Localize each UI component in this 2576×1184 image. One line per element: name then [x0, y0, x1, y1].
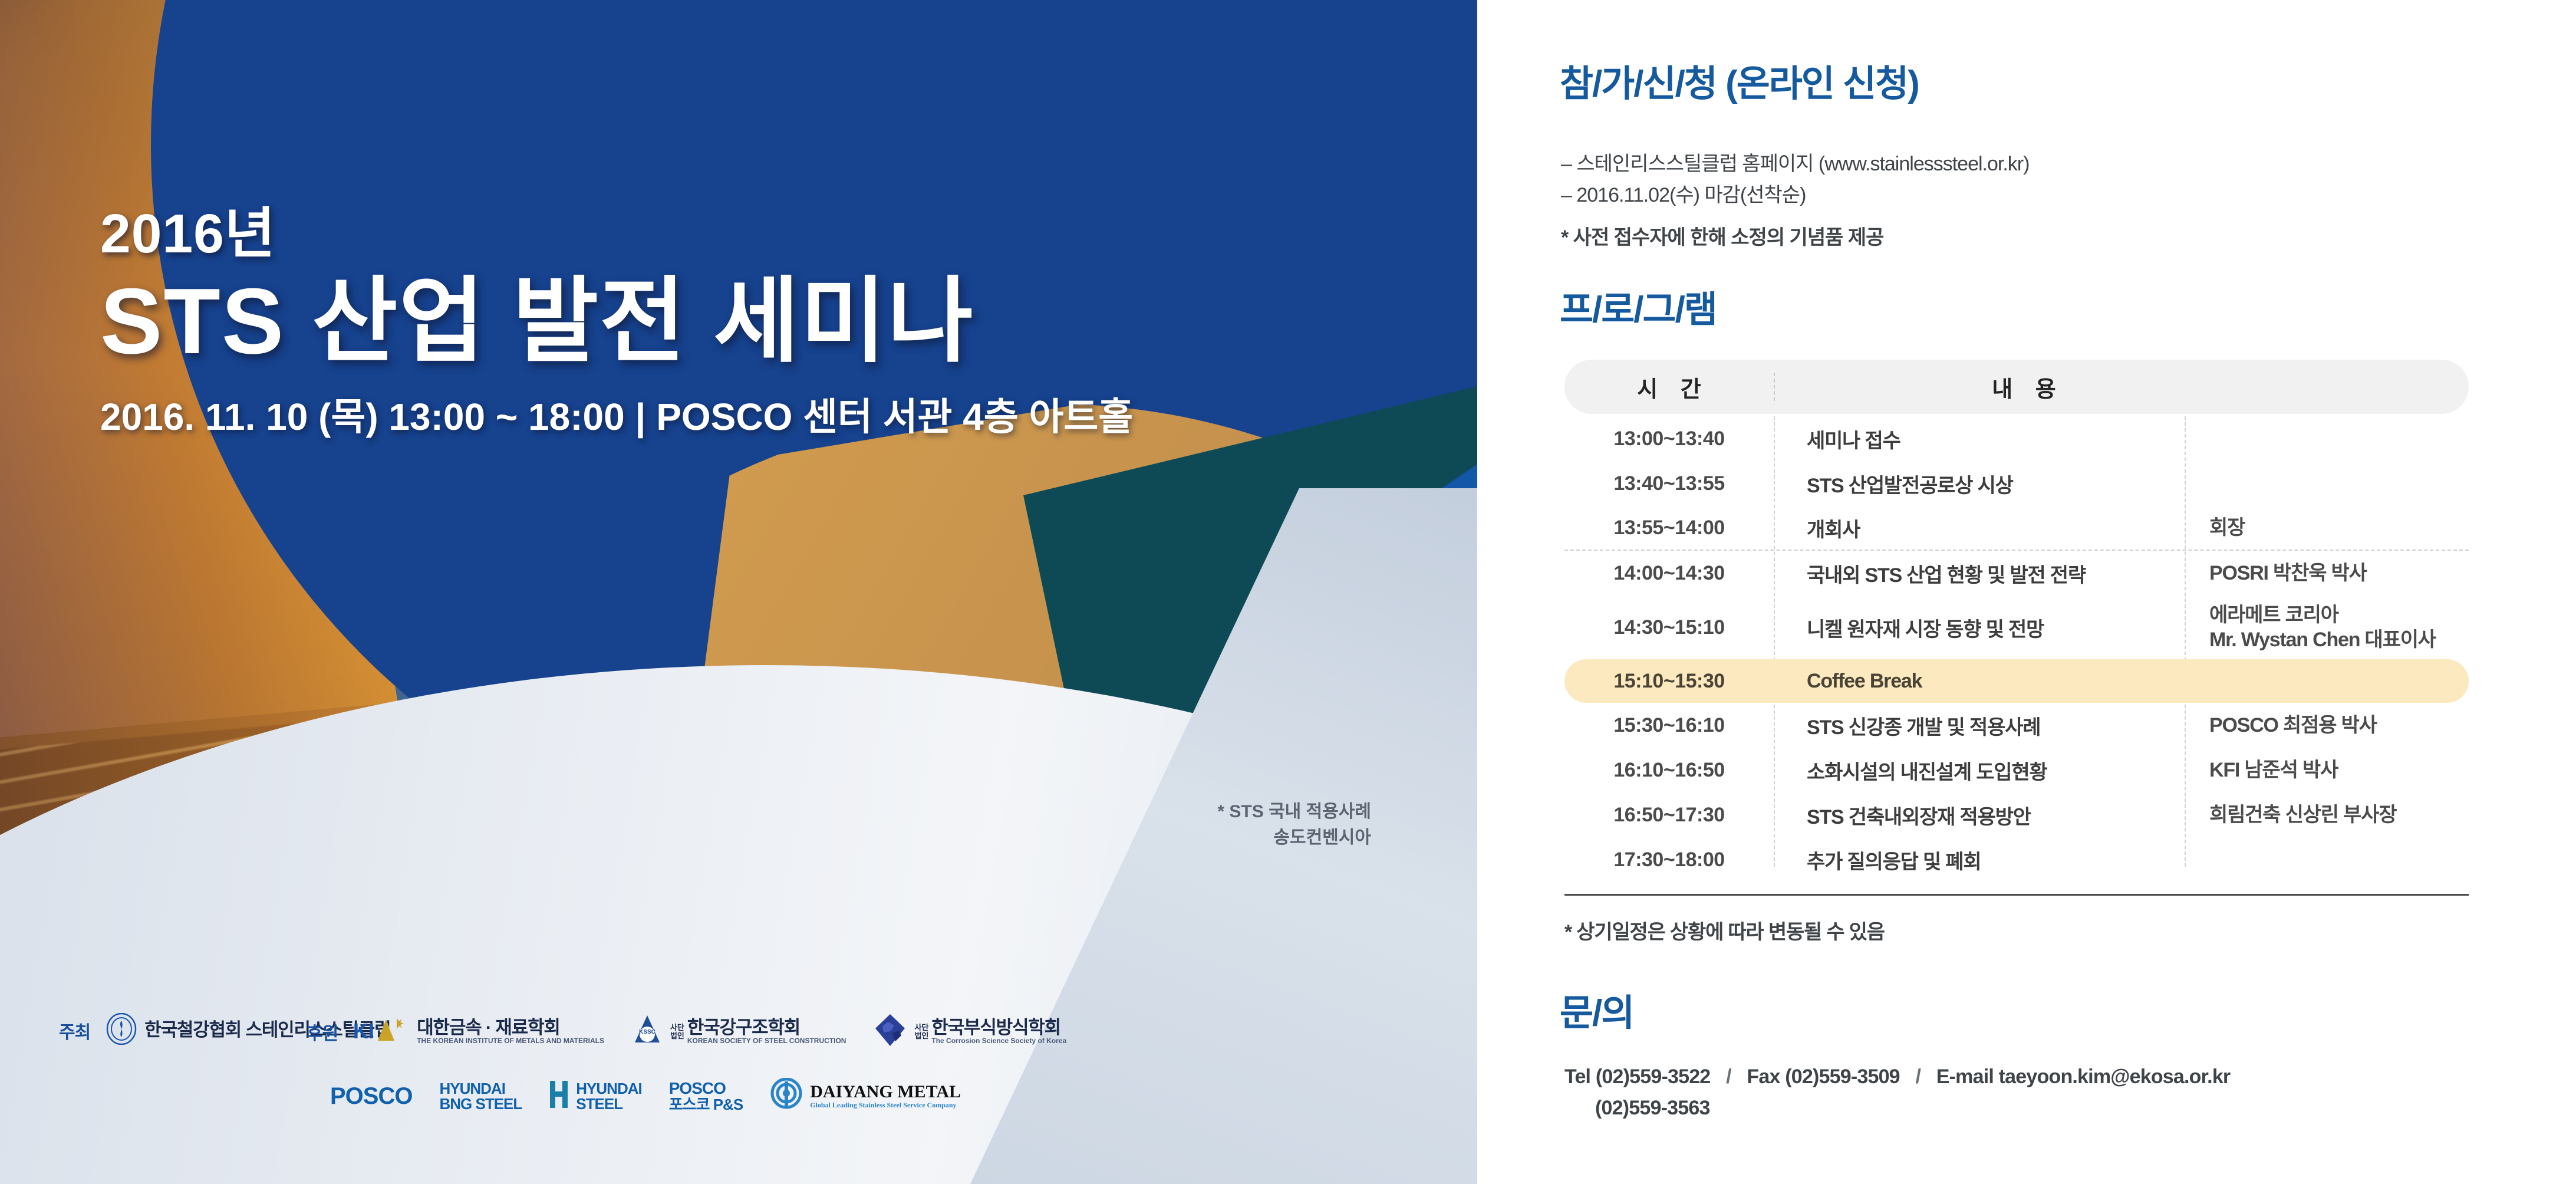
supporter-2-name-en: The Corrosion Science Society of Korea — [931, 1037, 1066, 1045]
daiyang-metal-logo-icon: DAIYANG METAL Global Leading Stainless S… — [810, 1083, 961, 1109]
program-row-speaker: 희림건축 신상린 부사장 — [2185, 803, 2469, 828]
hyundai-steel-top: HYUNDAI — [576, 1081, 641, 1096]
program-row: 15:10~15:30Coffee Break — [1564, 659, 2469, 703]
program-row: 13:55~14:00개회사회장 — [1564, 506, 2469, 551]
kosa-seal-icon — [106, 1013, 137, 1048]
info-panel: 참/가/신/청 (온라인 신청) – 스테인리스스틸클럽 홈페이지 (www.s… — [1477, 0, 2576, 1184]
photo-caption-line1: * STS 국내 적용사례 — [1217, 799, 1371, 825]
program-row: 15:30~16:10STS 신강종 개발 및 적용사례POSCO 최점용 박사 — [1564, 703, 2469, 748]
photo-credit-caption: * STS 국내 적용사례 송도컨벤시아 — [1217, 799, 1371, 850]
bngsteel-top: HYUNDAI — [439, 1081, 522, 1096]
company-logo-row: POSCO HYUNDAI BNG STEEL — [330, 1078, 988, 1114]
program-row-topic: 니켈 원자재 시장 동향 및 전망 — [1774, 613, 2185, 642]
program-row-topic: 추가 질의응답 및 폐회 — [1774, 846, 2185, 874]
program-row-time: 13:40~13:55 — [1564, 472, 1774, 495]
contact-separator-1: / — [1715, 1065, 1742, 1088]
supporter-1-name: 한국강구조학회 KOREAN SOCIETY OF STEEL CONSTRUC… — [687, 1018, 846, 1045]
contact-heading: 문/의 — [1560, 995, 1633, 1032]
logo-bng-steel: HYUNDAI BNG STEEL — [439, 1081, 522, 1111]
tel-value: (02)559-3522 — [1596, 1065, 1711, 1088]
program-row-speaker: POSRI 박찬욱 박사 — [2185, 561, 2469, 586]
supporter-2-prefix: 사단법인 — [914, 1024, 928, 1040]
apply-line-1: – 2016.11.02(수) 마감(선착순) — [1561, 180, 2029, 211]
svg-text:KI: KI — [353, 1019, 374, 1043]
email-label: E-mail — [1936, 1065, 1994, 1088]
program-heading: 프/로/그/램 — [1560, 292, 1717, 328]
supporter-2-name: 한국부식방식학회 The Corrosion Science Society o… — [931, 1018, 1066, 1045]
program-row-time: 15:30~16:10 — [1564, 714, 1774, 737]
hyundai-h-icon — [549, 1080, 569, 1112]
program-row-time: 13:55~14:00 — [1564, 517, 1774, 540]
hyundai-steel-bottom: STEEL — [576, 1096, 641, 1111]
program-row-topic: STS 신강종 개발 및 적용사례 — [1774, 711, 2185, 740]
program-row-topic: 국내외 STS 산업 현황 및 발전 전략 — [1774, 559, 2185, 588]
kssc-logo-icon: KSSC — [631, 1014, 663, 1049]
apply-line-0: – 스테인리스스틸클럽 홈페이지 (www.stainlesssteel.or.… — [1561, 149, 2029, 180]
posco-pns-bottom: 포스코 P&S — [669, 1097, 743, 1112]
contact-line-secondary: (02)559-3563 — [1564, 1093, 2230, 1124]
poster-title-block: 2016년 STS 산업 발전 세미나 2016. 11. 10 (목) 13:… — [100, 206, 1133, 441]
supporter-row: 후원 KI 대한금속 · 재료학회 THE KOREAN INSTITUTE O… — [307, 1013, 1093, 1050]
posco-pns-logo-icon: POSCO 포스코 P&S — [669, 1080, 743, 1112]
program-row: 17:30~18:00추가 질의응답 및 폐회 — [1564, 837, 2469, 882]
program-row: 16:50~17:30STS 건축내외장재 적용방안희림건축 신상린 부사장 — [1564, 792, 2469, 837]
supporter-0-name: 대한금속 · 재료학회 THE KOREAN INSTITUTE OF META… — [417, 1018, 604, 1045]
program-row: 14:30~15:10니켈 원자재 시장 동향 및 전망에라메트 코리아Mr. … — [1564, 596, 2469, 659]
tel-label: Tel — [1564, 1065, 1590, 1088]
program-row-time: 14:30~15:10 — [1564, 616, 1774, 639]
program-row-speaker: POSCO 최점용 박사 — [2185, 713, 2469, 738]
apply-lines: – 스테인리스스틸클럽 홈페이지 (www.stainlesssteel.or.… — [1561, 149, 2029, 211]
header-column-divider — [1774, 373, 1775, 401]
logo-kssc: KSSC 사단법인 한국강구조학회 KOREAN SOCIETY OF STEE… — [631, 1014, 846, 1049]
program-row-time: 14:00~14:30 — [1564, 562, 1774, 585]
fax-label: Fax — [1747, 1065, 1780, 1088]
program-row-time: 13:00~13:40 — [1564, 427, 1774, 450]
program-row: 16:10~16:50소화시설의 내진설계 도입현황KFI 남준석 박사 — [1564, 748, 2469, 792]
program-row-time: 16:10~16:50 — [1564, 759, 1774, 782]
program-footnote: * 상기일정은 상황에 따라 변동될 수 있음 — [1564, 916, 2469, 945]
poster-title: STS 산업 발전 세미나 — [100, 274, 1133, 369]
program-table-header: 시 간 내 용 — [1564, 360, 2469, 414]
program-row-topic: STS 건축내외장재 적용방안 — [1774, 801, 2185, 830]
daiyang-target-icon — [770, 1078, 803, 1114]
program-table: 시 간 내 용 13:00~13:40세미나 접수13:40~13:55STS … — [1564, 360, 2469, 945]
cssk-logo-icon — [873, 1013, 907, 1050]
logo-hyundai-steel: HYUNDAI STEEL — [549, 1080, 641, 1112]
photo-caption-line2: 송도컨벤시아 — [1217, 825, 1371, 851]
poster-year: 2016년 — [100, 206, 1133, 261]
contact-separator-2: / — [1905, 1065, 1931, 1088]
bngsteel-logo-icon: HYUNDAI BNG STEEL — [439, 1081, 522, 1111]
supporter-1-prefix: 사단법인 — [670, 1024, 684, 1040]
table-bottom-rule — [1564, 894, 2469, 896]
svg-text:KSSC: KSSC — [639, 1029, 655, 1035]
supporter-1-name-en: KOREAN SOCIETY OF STEEL CONSTRUCTION — [687, 1037, 846, 1045]
program-row-speaker: KFI 남준석 박사 — [2185, 758, 2469, 783]
email-value[interactable]: taeyoon.kim@ekosa.or.kr — [1999, 1065, 2231, 1088]
support-label: 후원 — [307, 1019, 338, 1045]
program-row-time: 15:10~15:30 — [1564, 670, 1774, 693]
hero-visual-panel: 2016년 STS 산업 발전 세미나 2016. 11. 10 (목) 13:… — [0, 0, 1477, 1184]
hyundai-steel-logo-icon: HYUNDAI STEEL — [576, 1081, 641, 1111]
host-label: 주최 — [59, 1018, 90, 1044]
logo-daiyang-metal: DAIYANG METAL Global Leading Stainless S… — [770, 1078, 961, 1114]
program-row-topic: STS 산업발전공로상 시상 — [1774, 469, 2185, 498]
seminar-poster: 2016년 STS 산업 발전 세미나 2016. 11. 10 (목) 13:… — [0, 0, 2576, 1184]
program-row-speaker: 회장 — [2185, 515, 2469, 541]
daiyang-tagline: Global Leading Stainless Steel Service C… — [810, 1101, 961, 1109]
apply-note: * 사전 접수자에 한해 소정의 기념품 제공 — [1561, 221, 1883, 250]
contact-line-primary: Tel (02)559-3522 / Fax (02)559-3509 / E-… — [1564, 1061, 2230, 1093]
poster-subtitle: 2016. 11. 10 (목) 13:00 ~ 18:00 | POSCO 센… — [100, 387, 1133, 441]
supporter-0-name-en: THE KOREAN INSTITUTE OF METALS AND MATER… — [417, 1037, 604, 1045]
logo-cssk: 사단법인 한국부식방식학회 The Corrosion Science Soci… — [873, 1013, 1066, 1050]
program-row-topic: Coffee Break — [1774, 670, 2185, 693]
program-row-topic: 개회사 — [1774, 514, 2185, 542]
program-row-topic: 세미나 접수 — [1774, 425, 2185, 453]
program-row: 13:00~13:40세미나 접수 — [1564, 416, 2469, 461]
apply-heading: 참/가/신/청 (온라인 신청) — [1560, 66, 1919, 103]
logo-kim: KI 대한금속 · 재료학회 THE KOREAN INSTITUTE OF M… — [353, 1015, 604, 1048]
logo-posco: POSCO — [330, 1084, 412, 1108]
bngsteel-bottom: BNG STEEL — [439, 1096, 522, 1111]
program-row-topic: 소화시설의 내진설계 도입현황 — [1774, 756, 2185, 785]
logo-posco-pns: POSCO 포스코 P&S — [669, 1080, 743, 1112]
sponsor-bar: 주최 한국철강협회 스테인리스스틸클럽 후원 — [0, 989, 1477, 1184]
program-row: 14:00~14:30국내외 STS 산업 현황 및 발전 전략POSRI 박찬… — [1564, 551, 2469, 596]
posco-logo-icon: POSCO — [330, 1084, 412, 1108]
program-row-speaker: 에라메트 코리아Mr. Wystan Chen 대표이사 — [2185, 603, 2469, 653]
fax-value: (02)559-3509 — [1785, 1065, 1900, 1088]
column-header-time: 시 간 — [1564, 371, 1774, 403]
kim-logo-icon: KI — [353, 1015, 410, 1048]
column-header-topic: 내 용 — [1774, 371, 2469, 403]
posco-pns-top: POSCO — [669, 1080, 743, 1097]
program-table-body: 13:00~13:40세미나 접수13:40~13:55STS 산업발전공로상 … — [1564, 416, 2469, 882]
program-row-time: 16:50~17:30 — [1564, 804, 1774, 827]
contact-details: Tel (02)559-3522 / Fax (02)559-3509 / E-… — [1564, 1061, 2230, 1123]
program-row: 13:40~13:55STS 산업발전공로상 시상 — [1564, 461, 2469, 506]
program-row-time: 17:30~18:00 — [1564, 848, 1774, 871]
